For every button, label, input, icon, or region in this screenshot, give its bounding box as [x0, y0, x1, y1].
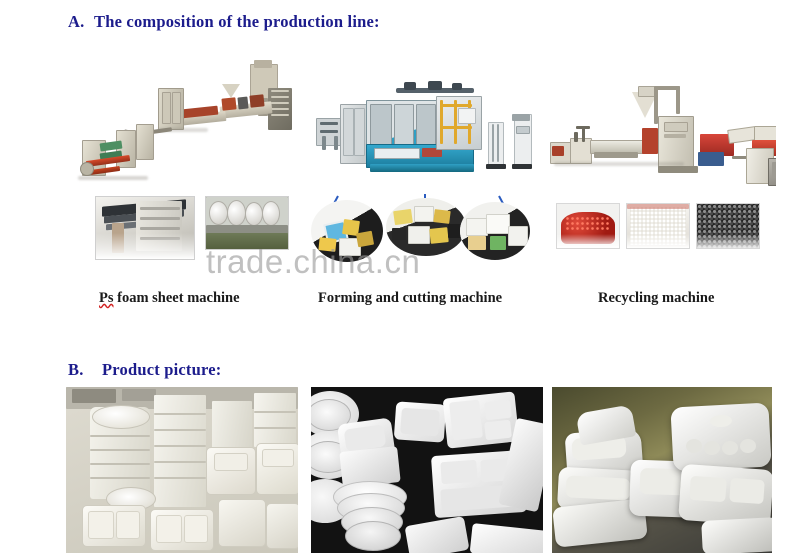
formed-products-circle-2	[386, 198, 466, 256]
product-picture-3	[552, 387, 772, 553]
section-a-heading: A.The composition of the production line…	[68, 12, 380, 32]
machine-2-caption: Forming and cutting machine	[318, 290, 502, 307]
section-b-heading: B.Product picture:	[68, 360, 221, 380]
recycling-machine-image	[546, 84, 776, 190]
machine-1-caption-rest: foam sheet machine	[114, 290, 240, 306]
section-a-title: The composition of the production line:	[94, 12, 380, 32]
foam-sheet-roll-stack-photo	[95, 196, 195, 260]
product-picture-1	[66, 387, 298, 553]
section-a-letter: A.	[68, 12, 94, 32]
section-b-title: Product picture:	[102, 360, 221, 380]
foam-sheet-rolls-outdoor-photo	[205, 196, 289, 250]
machine-1-caption-misspelled: Ps	[99, 290, 114, 306]
machine-3-caption: Recycling machine	[598, 290, 714, 307]
red-plastic-pellets-photo	[556, 203, 620, 249]
section-b-letter: B.	[68, 360, 102, 380]
formed-products-circle-3	[460, 202, 530, 260]
forming-and-cutting-machine-image	[312, 74, 534, 194]
product-picture-2	[311, 387, 543, 553]
catalog-page: A.The composition of the production line…	[0, 0, 788, 553]
machine-1-caption: Ps foam sheet machine	[99, 290, 240, 307]
black-plastic-pellets-photo	[696, 203, 760, 249]
ps-foam-sheet-machine-image	[72, 58, 294, 190]
formed-products-circle-1	[311, 200, 383, 262]
white-plastic-pellets-photo	[626, 203, 690, 249]
